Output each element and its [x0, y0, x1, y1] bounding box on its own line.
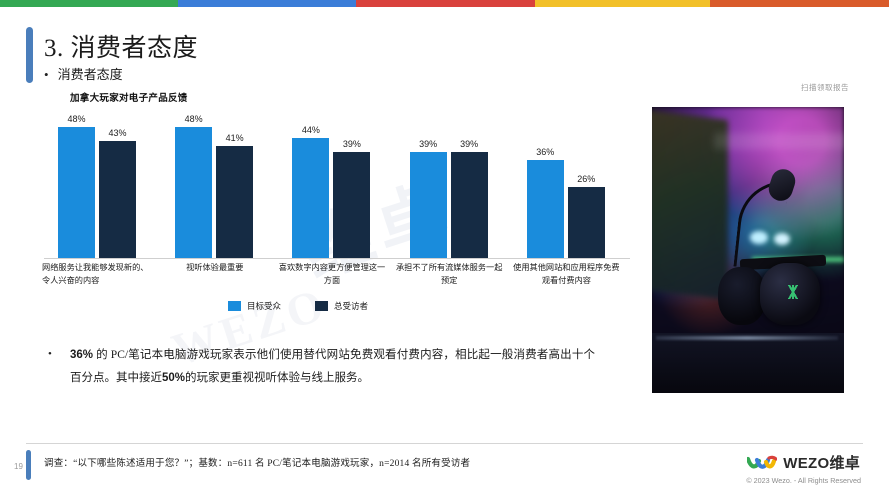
slide-canvas: 3. 消费者态度 • 消费者态度 维卓 WEZO 扫描领取报告 加拿大玩家对电子… — [0, 0, 889, 500]
top-color-bar — [0, 0, 889, 7]
chart-bar-rect — [292, 138, 329, 258]
legend-item-total[interactable]: 总受访者 — [315, 300, 368, 312]
chart-category-label: 视听体验最重要 — [159, 262, 270, 275]
photo-desk-edge-light — [656, 336, 838, 340]
legend-swatch-icon — [315, 301, 328, 311]
chart-bar-value-label: 39% — [343, 139, 361, 149]
chart-bar-rect — [58, 127, 95, 258]
top-bar-segment-yellow — [535, 0, 710, 7]
page-title: 3. 消费者态度 — [44, 28, 198, 64]
photo-headset-brand-icon — [785, 285, 801, 299]
chart-bar-target: 48% — [175, 108, 212, 258]
scan-qr-hint: 扫描领取报告 — [801, 82, 849, 93]
chart-bar-total: 39% — [451, 108, 488, 258]
photo-headset-earcup-left — [718, 267, 766, 325]
chart-bar-rect — [527, 160, 564, 258]
chart-category-label: 使用其他网站和应用程序免费观看付费内容 — [511, 262, 622, 287]
chart-bar-rect — [333, 152, 370, 258]
chart-bar-value-label: 48% — [185, 114, 203, 124]
chart-bar-value-label: 39% — [419, 139, 437, 149]
chart-bar-rect — [175, 127, 212, 258]
legend-label: 目标受众 — [247, 300, 281, 312]
chart-bar-total: 41% — [216, 108, 253, 258]
chart-bar-value-label: 48% — [67, 114, 85, 124]
chart-bar-target: 36% — [527, 108, 564, 258]
chart-bar-value-label: 41% — [226, 133, 244, 143]
paragraph-end-text: 的玩家更重视视听体验与线上服务。 — [185, 372, 369, 384]
brand-name: WEZO维卓 — [783, 452, 860, 473]
photo-shelf-light — [714, 133, 844, 149]
page-number: 19 — [14, 462, 23, 471]
chart-bar-value-label: 36% — [536, 147, 554, 157]
top-bar-segment-red — [356, 0, 536, 7]
footer-source-note: 调查：“以下哪些陈述适用于您？”；基数：n=611 名 PC/笔记本电脑游戏玩家… — [44, 455, 470, 469]
paragraph-bullet-icon: • — [48, 348, 52, 360]
wezo-logo-icon — [747, 455, 777, 471]
top-bar-segment-green — [0, 0, 178, 7]
chart-bar-rect — [216, 146, 253, 258]
chart-bar-rect — [99, 141, 136, 258]
chart-x-axis — [44, 258, 630, 259]
bullet-dot-icon: • — [44, 68, 49, 81]
footer-divider — [26, 443, 863, 444]
chart-category-label: 喜欢数字内容更方便管理这一方面 — [276, 262, 387, 287]
chart-category-label: 网络服务让我能够发现新的、令人兴奋的内容 — [42, 262, 153, 287]
header-bullet: • 消费者态度 — [44, 64, 123, 83]
chart-bar-total: 39% — [333, 108, 370, 258]
photo-desk — [652, 333, 844, 393]
legend-item-target[interactable]: 目标受众 — [228, 300, 281, 312]
chart-plot-area: 48%43%48%41%44%39%39%39%36%26% — [44, 108, 630, 258]
header-bullet-label: 消费者态度 — [58, 64, 123, 83]
paragraph-stat-secondary: 50% — [162, 372, 185, 384]
chart-bar-target: 39% — [410, 108, 447, 258]
copyright-text: © 2023 Wezo. - All Rights Reserved — [746, 476, 861, 485]
top-bar-segment-blue — [178, 0, 356, 7]
chart-category-label: 承担不了所有流媒体服务一起预定 — [394, 262, 505, 287]
brand-block: WEZO维卓 © 2023 Wezo. - All Rights Reserve… — [746, 452, 861, 485]
chart-legend: 目标受众总受访者 — [228, 300, 368, 312]
chart-bar-rect — [451, 152, 488, 258]
legend-swatch-icon — [228, 301, 241, 311]
gaming-headset-photo — [652, 107, 844, 393]
paragraph-stat-primary: 36% — [70, 349, 93, 361]
bar-chart: 加拿大玩家对电子产品反馈 48%43%48%41%44%39%39%39%36%… — [40, 90, 630, 335]
chart-bar-rect — [410, 152, 447, 258]
top-bar-segment-orange — [710, 0, 889, 7]
chart-bar-total: 26% — [568, 108, 605, 258]
legend-label: 总受访者 — [334, 300, 368, 312]
chart-bar-target: 48% — [58, 108, 95, 258]
chart-bar-total: 43% — [99, 108, 136, 258]
brand-logo-row: WEZO维卓 — [747, 452, 860, 473]
footer-accent-bar — [26, 450, 31, 480]
chart-title: 加拿大玩家对电子产品反馈 — [70, 90, 188, 104]
title-accent-bar — [26, 27, 33, 83]
chart-bar-value-label: 44% — [302, 125, 320, 135]
chart-bar-target: 44% — [292, 108, 329, 258]
chart-bar-value-label: 43% — [108, 128, 126, 138]
chart-bar-value-label: 26% — [577, 174, 595, 184]
body-paragraph: 36% 的 PC/笔记本电脑游戏玩家表示他们使用替代网站免费观看付费内容，相比起… — [70, 344, 595, 390]
chart-bar-value-label: 39% — [460, 139, 478, 149]
chart-bar-rect — [568, 187, 605, 258]
